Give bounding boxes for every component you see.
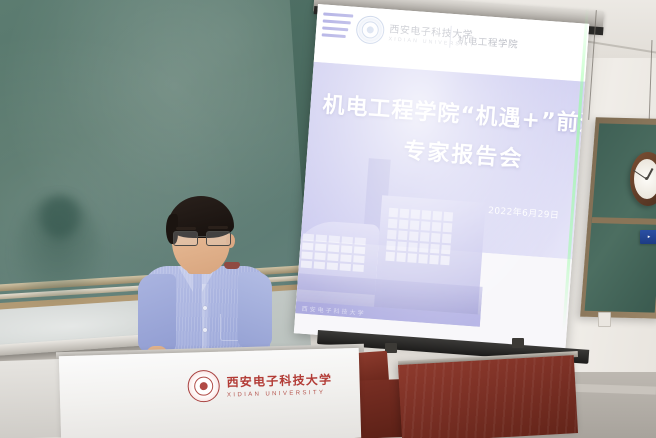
eyeglass-bridge [196, 236, 206, 237]
window-grid-rounded [301, 234, 366, 273]
speaker-eyebrow-right [208, 226, 228, 229]
campus-building-illustration: 西安电子科技大学 [295, 154, 491, 327]
shirt-button [203, 328, 207, 332]
shirt-sleeve-right [238, 272, 272, 348]
window-grid [385, 208, 453, 266]
podium-logo-cn: 西安电子科技大学 [226, 370, 332, 390]
eyeglasses-icon [173, 231, 231, 244]
shirt-sleeve-left [138, 274, 176, 352]
shirt-button [203, 306, 207, 310]
eyeglass-lens-right [206, 231, 231, 246]
podium-crest-icon [187, 370, 220, 403]
clock-face [634, 159, 656, 199]
wall-plate [598, 312, 611, 327]
university-crest-icon [355, 15, 385, 45]
wooden-table [398, 355, 578, 438]
podium-logo-en: XIDIAN UNIVERSITY [227, 389, 333, 398]
lectern-podium: 西安电子科技大学 XIDIAN UNIVERSITY [59, 348, 361, 438]
podium-university-logo: 西安电子科技大学 XIDIAN UNIVERSITY [187, 367, 332, 403]
eyeglass-lens-left [173, 231, 198, 246]
wall-socket-right [512, 338, 524, 348]
classroom-photo-scene: 西安电子科技大学 XIDIAN UNIVERSITY 机电工程学院 机电工程学院… [0, 0, 656, 438]
projection-screen: 西安电子科技大学 XIDIAN UNIVERSITY 机电工程学院 机电工程学院… [294, 4, 589, 353]
speaker-mouth [224, 262, 240, 269]
speaker-eyebrow-left [176, 227, 196, 230]
speaker-shadow-head [40, 196, 80, 238]
stripes-decoration-icon [321, 12, 353, 40]
presentation-slide: 西安电子科技大学 XIDIAN UNIVERSITY 机电工程学院 机电工程学院… [294, 4, 589, 353]
clock-center-pin [645, 177, 648, 180]
blue-wall-sign: ▸ [640, 230, 656, 244]
